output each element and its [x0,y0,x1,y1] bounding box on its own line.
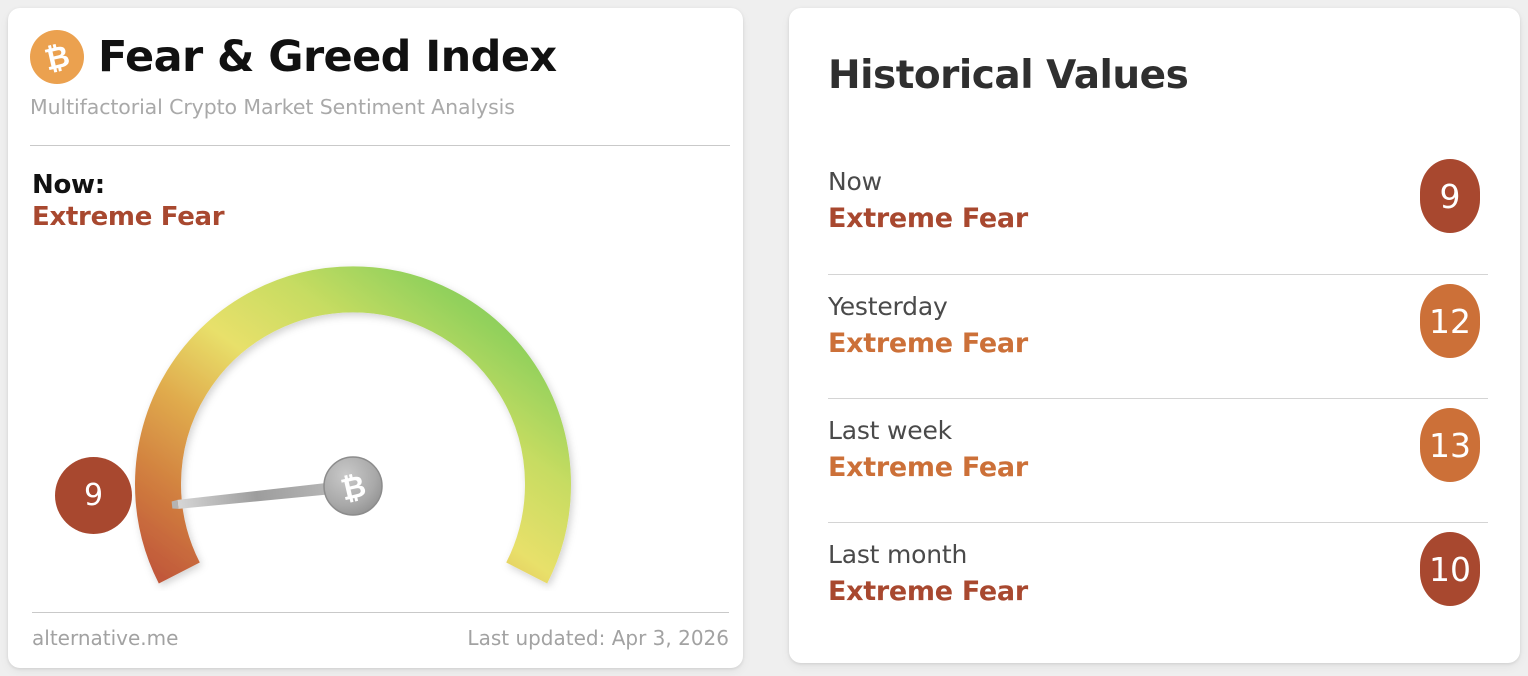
row-value: 13 [1429,429,1471,462]
svg-text:₿: ₿ [41,39,73,79]
list-item[interactable]: Yesterday Extreme Fear 12 [828,274,1488,398]
row-value-badge: 9 [1420,159,1480,233]
now-classification: Extreme Fear [32,201,224,235]
row-period: Last week [828,415,1028,446]
row-period: Now [828,166,1028,197]
gauge-chart: ₿ [48,236,658,591]
last-updated-label: Last updated: Apr 3, 2026 [467,626,729,650]
row-classification: Extreme Fear [828,452,1028,484]
gauge-value: 9 [84,481,103,511]
row-text: Now Extreme Fear [828,166,1028,236]
row-classification: Extreme Fear [828,576,1028,608]
fear-greed-gauge-card: ₿ Fear & Greed Index Multifactorial Cryp… [8,8,743,668]
historical-title: Historical Values [828,56,1188,95]
now-label: Now: [32,170,224,201]
list-item[interactable]: Now Extreme Fear 9 [828,150,1488,274]
list-item[interactable]: Last week Extreme Fear 13 [828,398,1488,522]
row-value: 9 [1440,180,1461,213]
row-period: Yesterday [828,291,1028,322]
header-divider [30,145,730,146]
bitcoin-icon: ₿ [30,30,84,84]
gauge-card-header: ₿ Fear & Greed Index Multifactorial Cryp… [30,30,730,119]
row-value-badge: 13 [1420,408,1480,482]
page-subtitle: Multifactorial Crypto Market Sentiment A… [30,95,730,119]
row-value-badge: 10 [1420,532,1480,606]
gauge-card-footer: alternative.me Last updated: Apr 3, 2026 [32,626,729,650]
row-value-badge: 12 [1420,284,1480,358]
row-value: 10 [1429,553,1471,586]
page-title: Fear & Greed Index [98,36,557,79]
source-label[interactable]: alternative.me [32,626,178,650]
current-reading: Now: Extreme Fear [32,170,224,234]
row-classification: Extreme Fear [828,328,1028,360]
gauge-value-badge: 9 [55,457,132,534]
row-classification: Extreme Fear [828,203,1028,235]
row-text: Yesterday Extreme Fear [828,291,1028,361]
page-root: ₿ Fear & Greed Index Multifactorial Cryp… [0,0,1528,676]
historical-list: Now Extreme Fear 9 Yesterday Extreme Fea… [828,150,1488,646]
list-item[interactable]: Last month Extreme Fear 10 [828,522,1488,646]
row-text: Last month Extreme Fear [828,539,1028,609]
bitcoin-needle-hub-icon: ₿ [324,457,382,515]
title-row: ₿ Fear & Greed Index [30,30,730,84]
row-period: Last month [828,539,1028,570]
row-text: Last week Extreme Fear [828,415,1028,485]
row-value: 12 [1429,305,1471,338]
footer-divider [32,612,729,613]
historical-values-card: Historical Values Now Extreme Fear 9 Yes… [789,8,1520,663]
